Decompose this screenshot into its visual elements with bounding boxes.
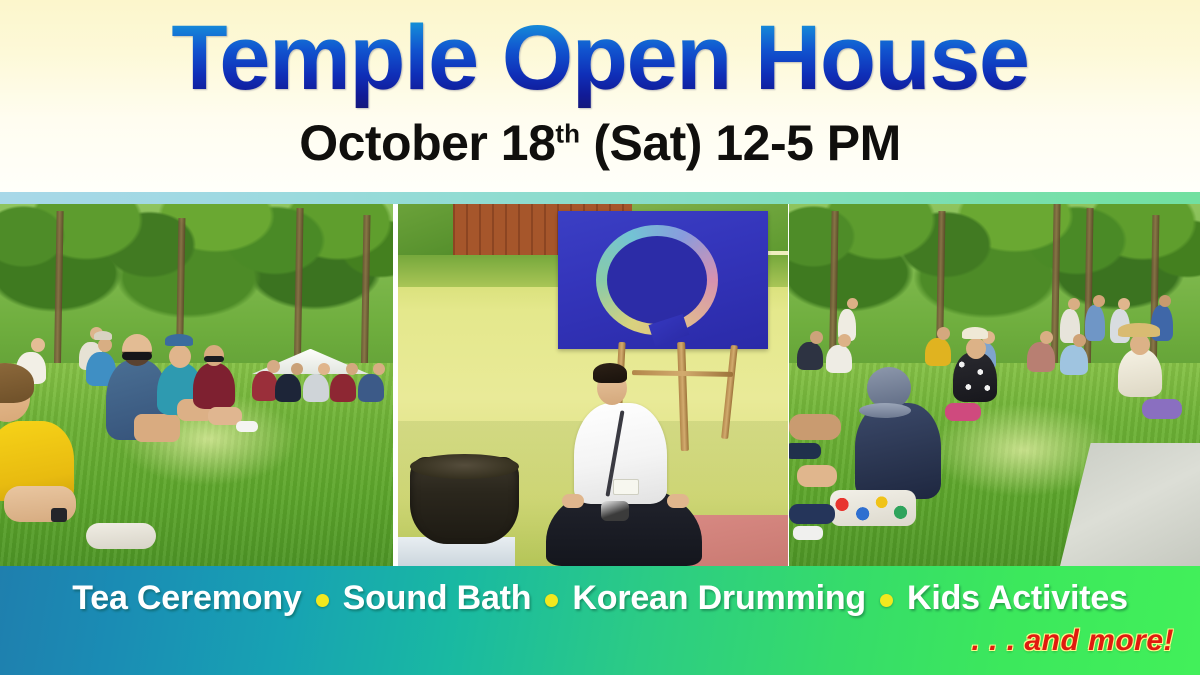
sunglasses (122, 352, 152, 360)
seated-person (252, 371, 278, 401)
seated-person (303, 374, 329, 402)
event-date-time: October 18th (Sat) 12-5 PM (0, 112, 1200, 174)
person-hat (94, 331, 112, 340)
foreground-seated-person (855, 403, 941, 499)
photo-monk-with-singing-bowl (398, 204, 788, 566)
person-head (937, 327, 950, 340)
person-head (966, 338, 986, 359)
sun-hat (962, 327, 988, 339)
header-divider-strip (0, 192, 1200, 204)
sunglasses (204, 356, 224, 362)
seated-person (826, 345, 852, 373)
person-head (1159, 295, 1171, 307)
ritual-object (601, 501, 629, 521)
person-head (346, 363, 358, 375)
monk-hair (593, 363, 627, 383)
monk-hand (562, 494, 584, 508)
colorful-mat (830, 490, 916, 526)
person-head (169, 345, 191, 368)
photo-outdoor-meditation-crowd (789, 204, 1200, 566)
person-legs (134, 414, 180, 442)
person-legs (789, 414, 841, 440)
seated-person (275, 374, 301, 402)
bullet-separator-icon (880, 594, 893, 607)
seated-person (358, 374, 384, 402)
bucket-hat-brim (859, 403, 911, 418)
seated-person (797, 342, 823, 370)
seated-person (953, 352, 997, 402)
enso-banner (558, 211, 769, 349)
singing-bowl-rim (410, 454, 519, 479)
seated-person (1060, 345, 1088, 375)
seated-person (925, 338, 951, 366)
standing-person (1085, 305, 1105, 341)
seated-person (330, 374, 356, 402)
baseball-cap (165, 334, 193, 346)
person-head (1118, 298, 1130, 310)
seated-person (193, 363, 235, 409)
event-date-prefix: October 18 (299, 115, 555, 171)
feature-tea-ceremony: Tea Ceremony (72, 579, 301, 617)
person-head (1093, 295, 1105, 307)
feature-kids-activities: Kids Activites (907, 579, 1128, 617)
shoe (793, 526, 823, 540)
person-legs (1142, 399, 1182, 419)
person-head (291, 363, 303, 375)
event-date-suffix: (Sat) 12-5 PM (580, 115, 901, 171)
person-head (267, 360, 280, 373)
and-more-tagline: . . . and more! (971, 622, 1174, 660)
banner-header: Temple Open House October 18th (Sat) 12-… (0, 0, 1200, 192)
temple-open-house-banner: Temple Open House October 18th (Sat) 12-… (0, 0, 1200, 675)
person-head (810, 331, 823, 344)
monk-hand (667, 494, 689, 508)
name-badge (613, 479, 639, 495)
person-legs (945, 403, 981, 421)
person-legs (797, 465, 837, 487)
person-head (122, 334, 152, 366)
feature-sound-bath: Sound Bath (343, 579, 532, 617)
features-bar: Tea CeremonySound BathKorean DrummingKid… (0, 566, 1200, 675)
seated-person (1118, 349, 1162, 397)
person-head (1040, 331, 1053, 344)
page-title: Temple Open House (0, 6, 1200, 110)
seated-person (1027, 342, 1055, 372)
bullet-separator-icon (316, 594, 329, 607)
enso-circle (596, 225, 718, 335)
photo-group-seated-on-lawn (0, 204, 393, 566)
event-date-ordinal: th (555, 118, 580, 148)
feature-korean-drumming: Korean Drumming (572, 579, 866, 617)
foreground-fabric (86, 523, 156, 549)
shoe (236, 421, 258, 432)
person-head (1073, 334, 1086, 347)
feature-list: Tea CeremonySound BathKorean DrummingKid… (0, 574, 1200, 622)
straw-hat (1118, 323, 1160, 337)
bullet-separator-icon (545, 594, 558, 607)
wristwatch (51, 508, 67, 522)
person-head (847, 298, 858, 309)
easel-crossbar (632, 370, 733, 377)
photo-strip (0, 204, 1200, 566)
shoe (789, 443, 821, 459)
person-legs (789, 504, 835, 524)
